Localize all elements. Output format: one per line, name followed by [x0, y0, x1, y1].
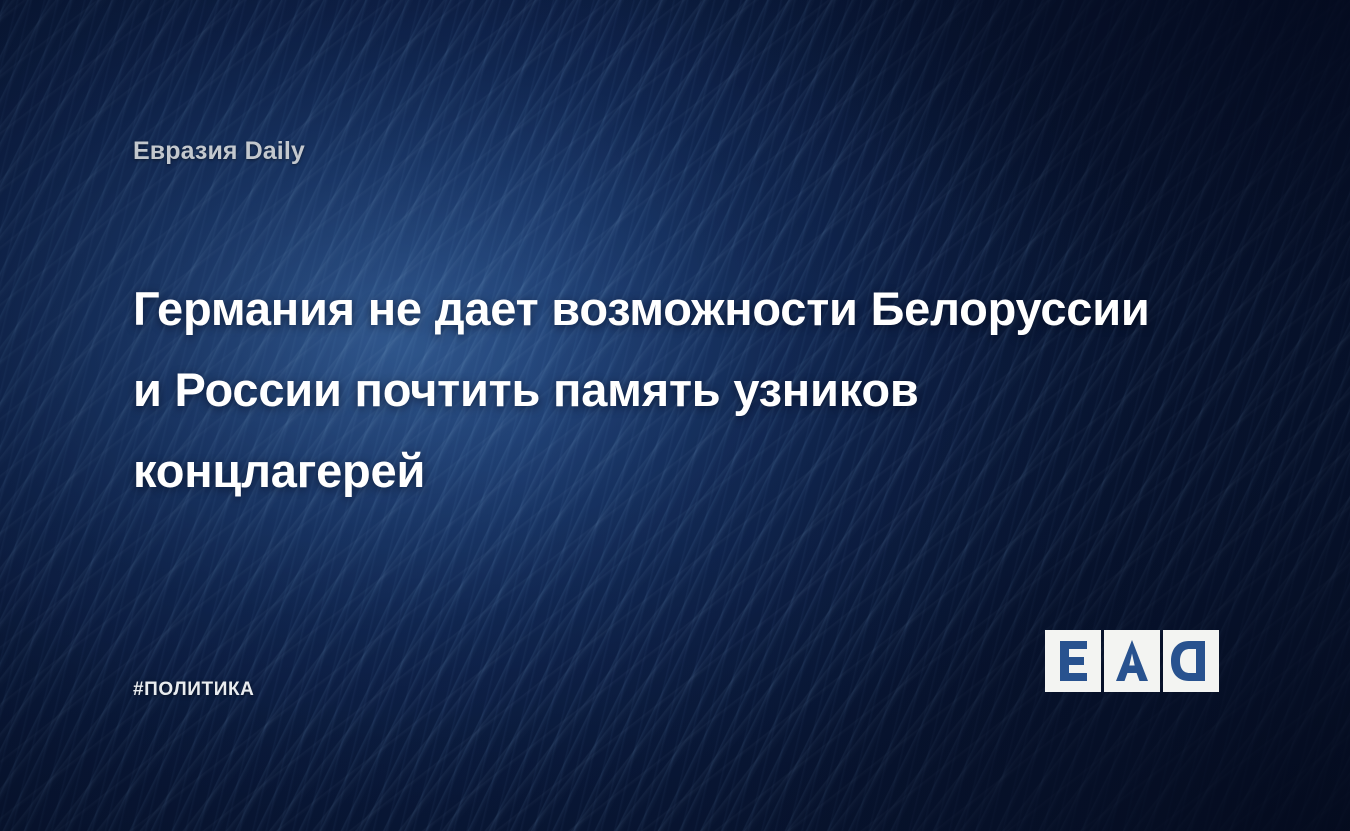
news-share-card: Евразия Daily Германия не дает возможнос…: [0, 0, 1350, 831]
logo-letter-d-top-glyph: [1163, 630, 1219, 661]
logo-tile-a: [1104, 630, 1160, 692]
logo-tile-d-top-half: [1163, 630, 1219, 661]
logo-tile-e: [1045, 630, 1101, 692]
category-tag-politika[interactable]: #ПОЛИТИКА: [133, 679, 255, 701]
brand-name: Евразия Daily: [133, 137, 305, 166]
logo-letter-a-glyph: [1104, 630, 1160, 692]
logo-letter-e-glyph: [1045, 630, 1101, 692]
page-title: Германия не дает возможности Белоруссии …: [133, 268, 1173, 511]
logo-tile-d-bottom-half: [1163, 661, 1219, 692]
card-content: Евразия Daily Германия не дает возможнос…: [0, 0, 1350, 831]
logo-letter-d-bottom-glyph: [1163, 661, 1219, 692]
eadaily-logo[interactable]: [1045, 630, 1221, 692]
logo-tile-d: [1163, 630, 1219, 692]
